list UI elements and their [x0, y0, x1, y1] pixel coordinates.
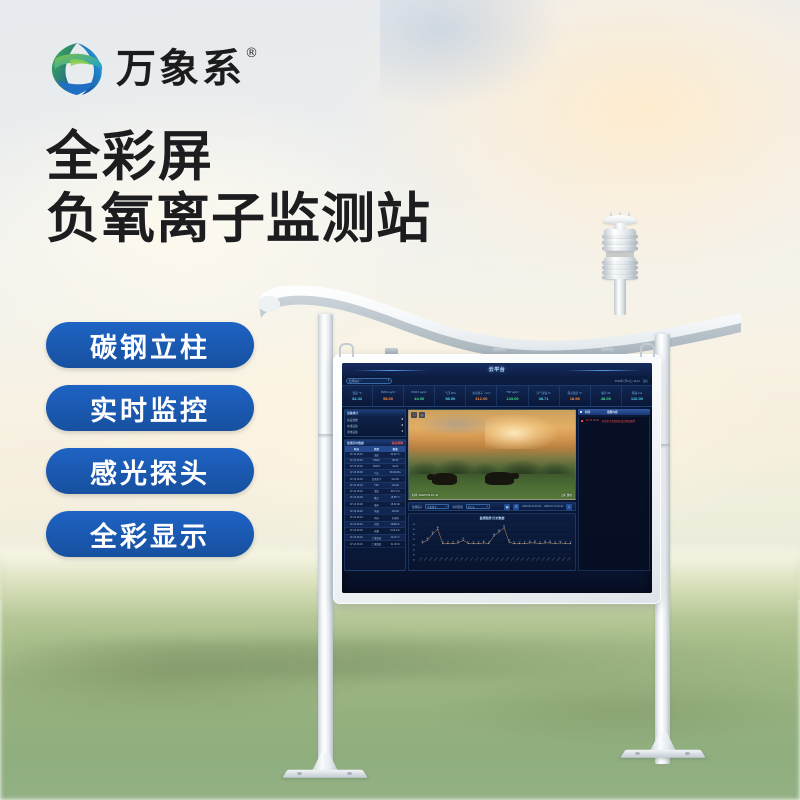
brand-name-text: 万象系: [116, 46, 245, 92]
chart-value-4: 17: [442, 541, 444, 543]
brand-logo: 万象系 ®: [48, 40, 245, 98]
realtime-data-table: 时间 类型 数值 07-13 16:42温度34.32 ℃07-13 16:42…: [345, 446, 405, 548]
metric-4-label: 负氧离子 ../cm³: [472, 391, 490, 395]
chart-value-8: 22: [462, 538, 464, 540]
chart-ytick-6: 15: [413, 554, 416, 556]
chart-xtick-10: 07-11: [470, 557, 474, 561]
feature-pill-1: 实时监控: [46, 385, 254, 431]
alarm-dot-icon: [581, 420, 583, 422]
sensor-ring-2: [602, 241, 638, 244]
metric-2-label: PM2.5 ug/m³: [412, 391, 427, 394]
metric-8-label: 噪声 db: [601, 391, 610, 395]
base-bolt-r2: [685, 752, 690, 755]
chevron-down-icon: ▾: [388, 379, 389, 382]
realtime-data-title: 监测实时数据: [347, 441, 364, 445]
alarm-panel-body: 07-13 16:42 负氧离子浓度超出设定阈值报警: [578, 417, 650, 571]
table-cell-12-0: 07-13 16:20: [345, 528, 368, 535]
table-cell-8-2: 48.00 db: [385, 501, 405, 508]
mount-hook-right: [640, 343, 655, 357]
headline-line-2: 负氧离子监测站: [46, 188, 431, 250]
table-cell-10-1: 风向: [368, 514, 386, 521]
chart-value-5: 17: [447, 541, 449, 543]
chart-xtick-29: 07-30: [567, 557, 571, 562]
chart-grid: [422, 524, 572, 554]
device-stats-title: 设备统计: [347, 411, 358, 415]
table-cell-10-0: 07-13 16:24: [345, 514, 368, 521]
table-cell-3-0: 07-13 16:38: [345, 469, 368, 476]
chart-xtick-8: 07-09: [460, 557, 464, 562]
factor-select-value: 负氧离子: [427, 505, 436, 509]
metric-9-value: 116.00: [631, 396, 643, 401]
product-poster: 万象系 ® 全彩屏 负氧离子监测站 碳钢立柱 实时监控 感光探头 全彩显示: [0, 0, 800, 800]
chart-value-25: 18: [549, 541, 551, 543]
metric-8: 噪声 db 48.00: [591, 386, 622, 406]
metric-8-value: 48.00: [601, 396, 611, 401]
header-rule-left: [354, 370, 428, 371]
table-cell-14-1: 土壤湿度: [368, 541, 386, 548]
alarm-row-0-time: 07-13 16:42: [586, 419, 599, 422]
metric-3: 气压 kPa 98.00: [435, 386, 466, 406]
metric-2-value: 44.00: [414, 396, 424, 401]
chart-xtick-2: 07-03: [429, 557, 433, 562]
mount-hook-left: [339, 343, 354, 357]
table-cell-7-0: 07-13 16:30: [345, 495, 368, 502]
base-foot-left: [285, 754, 365, 780]
table-cell-6-0: 07-13 16:32: [345, 488, 368, 495]
mount-tab-1: [385, 348, 398, 354]
realtime-data-panel: 监测实时数据 超标预警 时间 类型 数值: [344, 439, 406, 571]
site-select[interactable]: 监测站点一 ▾: [346, 378, 392, 384]
table-row[interactable]: 07-13 16:32湿度38.71 %: [345, 488, 405, 495]
dashboard-subheader: 监测站点一 ▾ 2025年7月13日 16:42 退出: [342, 376, 652, 385]
brand-name: 万象系 ®: [116, 49, 245, 89]
chart-xtick-22: 07-23: [531, 557, 535, 562]
chart-value-0: 18: [421, 541, 423, 543]
device-stats-panel: 设备统计 总设备数 3 在线设备 2: [344, 409, 406, 437]
table-cell-12-2: 0.00 mm: [385, 528, 405, 535]
sensor-stem: [614, 279, 626, 315]
video-cow-2-head: [510, 473, 519, 479]
table-cell-3-2: 98.00 kPa: [385, 469, 405, 476]
table-cell-8-0: 07-13 16:28: [345, 501, 368, 508]
table-cell-14-2: 31.40 %: [385, 541, 405, 548]
chart-xtick-17: 07-18: [506, 557, 510, 562]
center-column: ⛶ ◎ 时间: 2022/7/13 16: 42 山东 潍坊 监测因子 负氧离子…: [408, 409, 576, 571]
range-select[interactable]: 近七天 ▾: [466, 504, 490, 510]
realtime-table-body: 07-13 16:42温度34.32 ℃07-13 16:42PM1058.00…: [345, 452, 405, 547]
chart-xtick-14: 07-15: [490, 557, 494, 562]
pole-left: [318, 314, 333, 764]
chart-xtick-1: 07-02: [424, 557, 428, 562]
chart-value-13: 17: [488, 541, 490, 543]
table-cell-7-1: 露点: [368, 495, 386, 502]
table-cell-4-2: 312.00: [385, 476, 405, 483]
table-cell-4-0: 07-13 16:36: [345, 476, 368, 483]
table-cell-4-1: 负氧离子: [368, 476, 386, 483]
trend-chart-panel: 监测趋势 历史数据: [408, 513, 576, 571]
table-row[interactable]: 07-13 16:20雨量0.00 mm: [345, 528, 405, 535]
sensor-ring-3: [602, 247, 638, 250]
date-from: 2025-06-13 16:42: [522, 505, 541, 508]
chart-control-bar: 监测因子 负氧离子 ▾ 时间范围 近七天 ▾ ▦ ☰: [408, 502, 576, 511]
metric-4: 负氧离子 ../cm³ 312.00: [466, 386, 497, 406]
chart-value-24: 18: [544, 541, 546, 543]
video-cow-1: [432, 473, 457, 485]
alarm-row-0-message: 负氧离子浓度超出设定阈值报警: [602, 419, 635, 423]
metric-5-label: TSP ug/m³: [506, 391, 519, 394]
device-stat-2: 离线设备 1: [347, 430, 403, 434]
video-cow-1-head: [427, 474, 435, 480]
metric-1-label: PM10 ug/m³: [381, 391, 396, 394]
chart-xtick-5: 07-06: [444, 557, 448, 562]
table-cell-9-1: 风速: [368, 508, 386, 515]
chart-xtick-3: 07-04: [434, 557, 438, 562]
metric-strip: 温度 ℃ 34.32 PM10 ug/m³ 58.00 PM2.5 ug/m³ …: [342, 385, 652, 407]
header-meta: 2025年7月13日 16:42 退出: [615, 379, 648, 383]
base-bolt-l1: [297, 772, 302, 775]
chart-value-7: 18: [457, 541, 459, 543]
device-stat-1-value: 2: [402, 424, 404, 428]
base-bolt-l2: [347, 772, 352, 775]
feature-pill-3: 全彩显示: [46, 511, 254, 557]
chart-xtick-15: 07-16: [496, 557, 500, 562]
left-column: 设备统计 总设备数 3 在线设备 2: [344, 409, 406, 571]
trend-line-chart: 4540353025201510 18223138171717182217171…: [411, 521, 573, 567]
table-cell-11-0: 07-13 16:22: [345, 521, 368, 528]
table-row[interactable]: 07-13 16:28噪声48.00 db: [345, 501, 405, 508]
metric-7-value: 18.58: [570, 396, 580, 401]
table-cell-10-2: 东南风: [385, 514, 405, 521]
video-cow-2: [485, 472, 513, 484]
metric-0: 温度 ℃ 34.32: [342, 386, 373, 406]
video-timestamp: 时间: 2022/7/13 16: 42: [412, 493, 438, 497]
grid-view-icon[interactable]: ▦: [504, 504, 510, 510]
chart-xtick-18: 07-19: [511, 557, 515, 562]
list-view-icon[interactable]: ☰: [513, 504, 519, 510]
pole-left-seam: [318, 434, 333, 438]
alarm-bullet-icon: [580, 411, 582, 413]
dashboard-header: 云平台: [342, 363, 652, 376]
table-cell-3-1: 气压: [368, 469, 386, 476]
metric-5-value: 143.00: [506, 396, 518, 401]
device-stat-0-label: 总设备数: [347, 418, 358, 422]
chart-ytick-5: 20: [413, 549, 416, 551]
capture-icon[interactable]: ⛶: [411, 412, 417, 418]
chart-value-9: 17: [467, 541, 469, 543]
chart-value-26: 17: [554, 541, 556, 543]
chart-value-2: 31: [432, 532, 434, 534]
table-cell-12-1: 雨量: [368, 528, 386, 535]
dashboard-body: 设备统计 总设备数 3 在线设备 2: [342, 407, 652, 573]
chevron-down-icon-factor: ▾: [446, 505, 447, 508]
chart-value-16: 40: [503, 526, 505, 528]
chart-x-axis-labels: 07-0107-0207-0307-0407-0507-0607-0707-08…: [419, 557, 571, 562]
metric-6-label: 空气湿度 %: [537, 391, 551, 395]
chart-data-points: [422, 527, 571, 544]
header-datetime: 2025年7月13日 16:42: [615, 379, 640, 383]
chart-value-29: 17: [570, 541, 572, 543]
alarm-row-0: 07-13 16:42 负氧离子浓度超出设定阈值报警: [581, 419, 647, 423]
table-cell-13-1: 土壤温度: [368, 534, 386, 541]
video-sun-glow: [485, 414, 558, 450]
device-stat-1-label: 在线设备: [347, 424, 358, 428]
chart-xtick-24: 07-25: [542, 557, 546, 562]
chart-xtick-25: 07-26: [547, 557, 551, 562]
chart-value-18: 17: [513, 541, 515, 543]
table-row[interactable]: 07-13 16:38气压98.00 kPa: [345, 469, 405, 476]
chart-value-3: 38: [437, 527, 439, 529]
alarm-col-message: 报警内容: [607, 410, 617, 414]
device-stat-1: 在线设备 2: [347, 424, 403, 428]
metric-3-value: 98.00: [445, 396, 455, 401]
chart-xtick-11: 07-12: [475, 557, 479, 562]
table-row[interactable]: 07-13 16:36负氧离子312.00: [345, 476, 405, 483]
feature-pill-0: 碳钢立柱: [46, 322, 254, 368]
dashboard-title: 云平台: [489, 366, 506, 373]
metric-4-value: 312.00: [475, 396, 487, 401]
table-cell-8-1: 噪声: [368, 501, 386, 508]
mount-tab-3: [601, 348, 614, 354]
chart-xtick-4: 07-05: [439, 557, 443, 562]
chart-xtick-28: 07-29: [562, 557, 566, 562]
video-camera-label: 山东 潍坊: [561, 493, 572, 497]
table-row[interactable]: 07-13 16:18土壤温度22.10 ℃: [345, 534, 405, 541]
chart-value-23: 17: [539, 541, 541, 543]
logout-button[interactable]: 退出: [643, 379, 648, 383]
realtime-alarm-tag: 超标预警: [392, 441, 403, 445]
metric-2: PM2.5 ug/m³ 44.00: [404, 386, 435, 406]
chart-value-15: 34: [498, 530, 500, 532]
chart-xtick-13: 07-14: [485, 557, 489, 562]
chart-series-line: [422, 528, 570, 544]
table-cell-9-0: 07-13 16:26: [345, 508, 368, 515]
table-cell-7-2: 18.58 ℃: [385, 495, 405, 502]
site-select-value: 监测站点一: [349, 379, 362, 383]
monitoring-station: 云平台 监测站点一 ▾ 2025年7月13日 16:42 退出: [255, 270, 755, 780]
metric-7: 露点温度 ℃ 18.58: [560, 386, 591, 406]
factor-select[interactable]: 负氧离子 ▾: [425, 504, 449, 510]
device-stat-2-label: 离线设备: [347, 430, 358, 434]
metric-0-value: 34.32: [352, 396, 362, 401]
chart-value-28: 17: [565, 541, 567, 543]
sensor-ring-5: [602, 266, 638, 269]
chart-value-22: 18: [534, 541, 536, 543]
table-row[interactable]: 07-13 16:16土壤湿度31.40 %: [345, 541, 405, 548]
chart-ytick-3: 30: [413, 539, 416, 541]
chart-ytick-1: 40: [413, 529, 416, 531]
table-cell-13-0: 07-13 16:18: [345, 534, 368, 541]
mount-tab-2: [493, 348, 506, 354]
right-column: 时间 报警内容 07-13 16:42 负氧离子浓度超出设定阈值报警: [578, 409, 650, 571]
device-stats-rows: 总设备数 3 在线设备 2 离线设备 1: [345, 416, 405, 436]
chart-value-21: 18: [529, 541, 531, 543]
base-plate-left: [282, 770, 367, 778]
metric-7-label: 露点温度 ℃: [567, 391, 582, 395]
table-cell-13-2: 22.10 ℃: [385, 534, 405, 541]
chart-value-12: 18: [483, 541, 485, 543]
feature-pill-2: 感光探头: [46, 448, 254, 494]
factor-label: 监测因子: [412, 505, 422, 509]
headline-line-1: 全彩屏: [46, 126, 431, 188]
chart-xtick-12: 07-13: [480, 557, 484, 562]
camera-feed[interactable]: ⛶ ◎ 时间: 2022/7/13 16: 42 山东 潍坊: [408, 409, 576, 500]
chart-xtick-7: 07-08: [455, 557, 459, 562]
metric-5: TSP ug/m³ 143.00: [497, 386, 528, 406]
headline-block: 全彩屏 负氧离子监测站: [46, 126, 431, 249]
alarm-panel-header: 时间 报警内容: [578, 409, 650, 415]
table-cell-9-2: 116.00: [385, 508, 405, 515]
device-stat-2-value: 1: [402, 430, 404, 434]
registered-mark: ®: [245, 47, 261, 60]
chart-value-20: 17: [524, 541, 526, 543]
chart-value-10: 17: [473, 541, 475, 543]
globe-swirl-logo-icon: [48, 40, 106, 98]
sensor-ring-4: [602, 261, 638, 264]
chart-value-labels: 1822313817171718221717171817283440191717…: [421, 526, 571, 544]
chart-ytick-4: 25: [413, 544, 416, 546]
chart-xtick-0: 07-01: [419, 557, 423, 562]
chart-xtick-19: 07-20: [516, 557, 520, 562]
chart-xtick-9: 07-10: [465, 557, 469, 562]
led-dashboard-screen[interactable]: 云平台 监测站点一 ▾ 2025年7月13日 16:42 退出: [342, 363, 652, 593]
chart-xtick-26: 07-27: [552, 557, 556, 562]
metric-9: 风速 m/s 116.00: [622, 386, 652, 406]
chart-value-27: 18: [559, 541, 561, 543]
chart-value-19: 17: [519, 541, 521, 543]
video-toolbar: ⛶ ◎: [411, 412, 425, 418]
metric-0-label: 温度 ℃: [352, 391, 361, 395]
chart-xtick-20: 07-21: [521, 557, 525, 562]
chart-xtick-21: 07-22: [526, 557, 530, 562]
table-cell-11-2: 28450 lx: [385, 521, 405, 528]
base-plate-right: [620, 750, 705, 758]
metric-6-value: 38.71: [539, 396, 549, 401]
chart-value-17: 19: [508, 540, 510, 542]
chart-y-axis-labels: 4540353025201510: [413, 524, 416, 561]
metric-1: PM10 ug/m³ 58.00: [373, 386, 404, 406]
date-to: 2025-07-13 16:42: [544, 505, 563, 508]
metric-6: 空气湿度 % 38.71: [529, 386, 560, 406]
display-cabinet: 云平台 监测站点一 ▾ 2025年7月13日 16:42 退出: [333, 354, 661, 604]
feature-pill-list: 碳钢立柱 实时监控 感光探头 全彩显示: [46, 322, 254, 557]
chart-title: 监测趋势 历史数据: [411, 516, 573, 520]
device-stat-0-value: 3: [402, 418, 404, 422]
chart-value-1: 22: [427, 538, 429, 540]
range-select-value: 近七天: [468, 505, 475, 509]
base-foot-right: [623, 734, 703, 760]
metric-3-label: 气压 kPa: [445, 391, 456, 395]
weather-sensor: [597, 215, 643, 327]
table-row[interactable]: 07-13 16:22光照28450 lx: [345, 521, 405, 528]
chart-xtick-16: 07-17: [501, 557, 505, 562]
chevron-down-icon-range: ▾: [487, 505, 488, 508]
record-icon[interactable]: ◎: [419, 412, 425, 418]
chart-value-11: 17: [478, 541, 480, 543]
range-label: 时间范围: [452, 505, 462, 509]
chart-xtick-6: 07-07: [450, 557, 454, 562]
chart-xtick-27: 07-28: [557, 557, 561, 562]
header-rule-right: [566, 370, 640, 371]
table-row[interactable]: 07-13 16:30露点18.58 ℃: [345, 495, 405, 502]
chart-ytick-0: 45: [413, 524, 416, 526]
chart-ytick-2: 35: [413, 534, 416, 536]
table-cell-6-1: 湿度: [368, 488, 386, 495]
device-stat-0: 总设备数 3: [347, 418, 403, 422]
sensor-ring-1: [602, 235, 638, 238]
chart-value-14: 28: [493, 534, 495, 536]
metric-1-value: 58.00: [383, 396, 393, 401]
table-cell-6-2: 38.71 %: [385, 488, 405, 495]
table-cell-11-1: 光照: [368, 521, 386, 528]
table-row[interactable]: 07-13 16:24风向东南风: [345, 514, 405, 521]
metric-9-label: 风速 m/s: [632, 391, 642, 395]
chart-value-6: 17: [452, 541, 454, 543]
export-button[interactable]: ⇩: [566, 504, 572, 510]
sensor-ring-6: [602, 271, 638, 274]
chart-xtick-23: 07-24: [536, 557, 540, 562]
table-row[interactable]: 07-13 16:26风速116.00: [345, 508, 405, 515]
table-cell-14-0: 07-13 16:16: [345, 541, 368, 548]
chart-ytick-7: 10: [413, 559, 416, 561]
base-bolt-r1: [635, 752, 640, 755]
alarm-col-time: 时间: [585, 410, 590, 414]
